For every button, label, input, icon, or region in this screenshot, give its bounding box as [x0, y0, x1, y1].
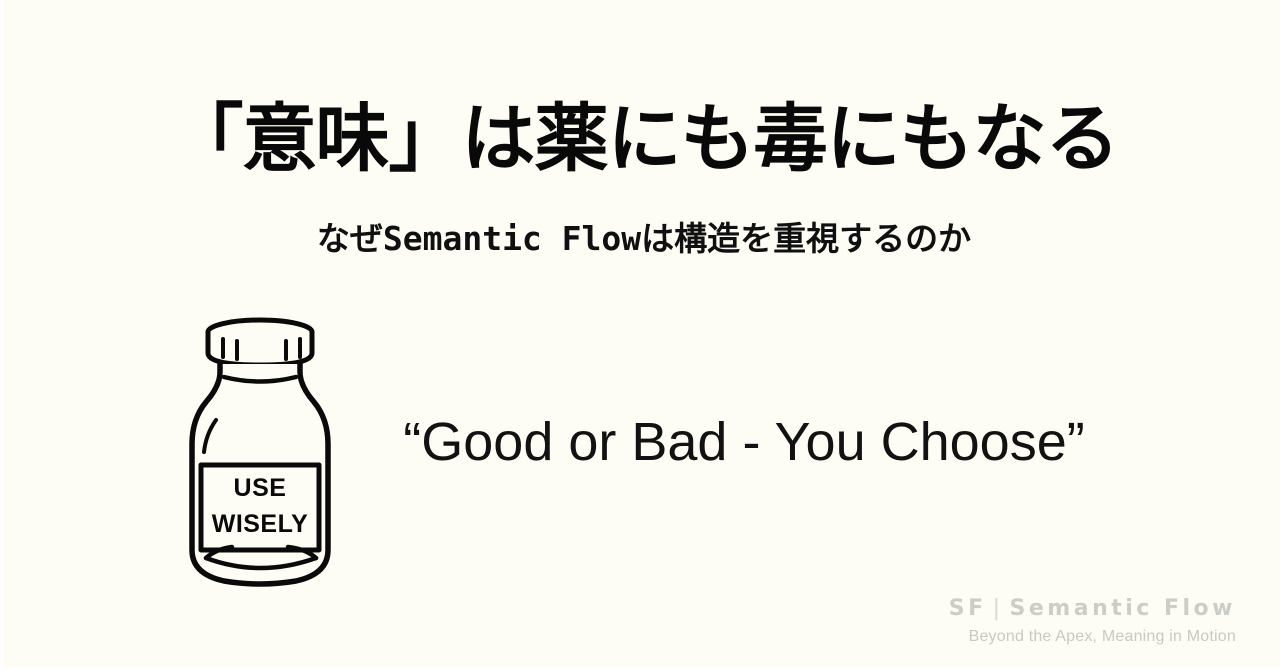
brand-logo-mark: SF: [949, 596, 987, 621]
brand-logo-name: Semantic Flow: [1010, 596, 1236, 621]
bottle-label-line1: USE: [234, 474, 287, 502]
brand-logo-separator: |: [987, 598, 1010, 620]
medicine-bottle-illustration: USE WISELY: [176, 306, 376, 594]
bottle-label-line2: WISELY: [212, 510, 309, 538]
page-title: 「意味」は薬にも毒にもなる: [4, 102, 1280, 176]
slide-canvas: 「意味」は薬にも毒にもなる なぜSemantic Flowは構造を重視するのか: [0, 0, 1280, 670]
brand-tagline: Beyond the Apex, Meaning in Motion: [949, 629, 1236, 645]
page-subtitle: なぜSemantic Flowは構造を重視するのか: [4, 222, 1280, 255]
quote-text: “Good or Bad - You Choose”: [394, 413, 1094, 472]
brand-logo: SF|Semantic Flow: [949, 598, 1236, 620]
brand-footer: SF|Semantic Flow Beyond the Apex, Meanin…: [949, 598, 1236, 645]
